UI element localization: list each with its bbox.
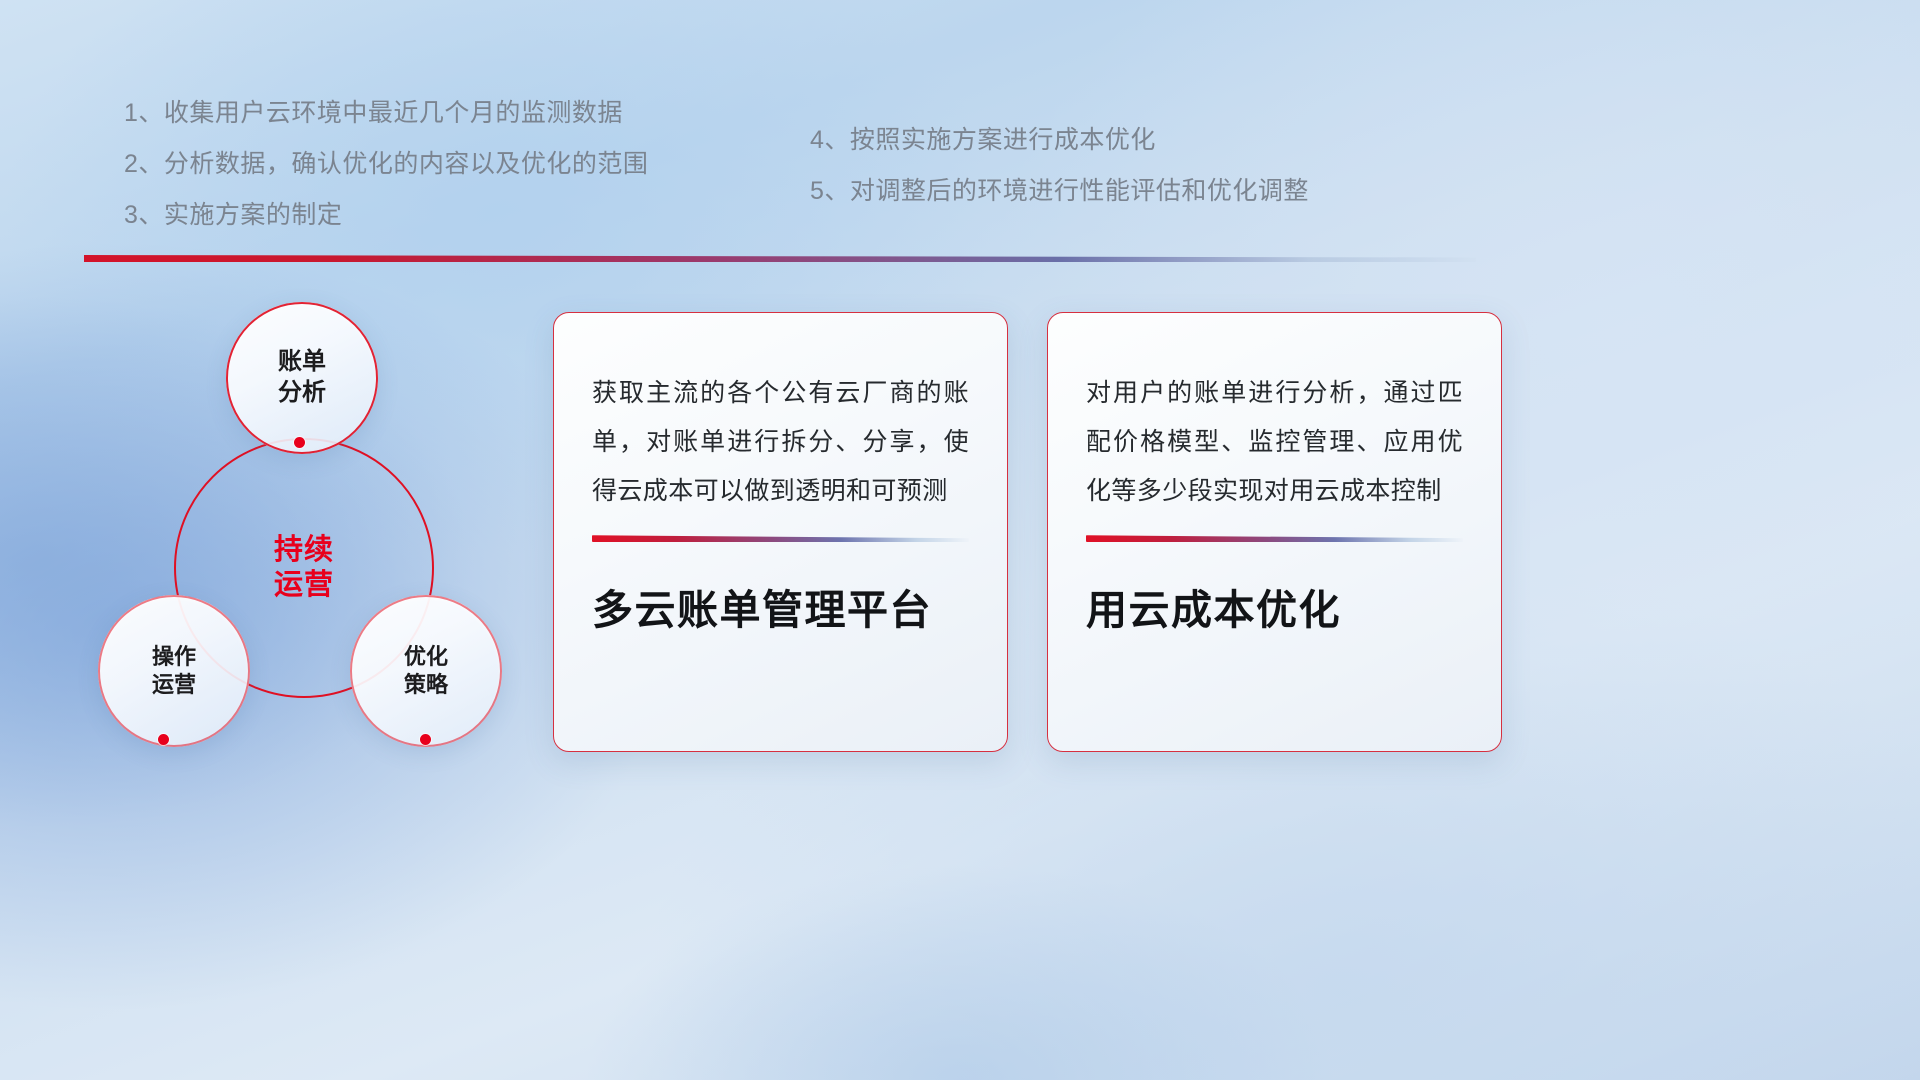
steps-right-column: 4、按照实施方案进行成本优化 5、对调整后的环境进行性能评估和优化调整 (810, 128, 1309, 230)
continuous-operation-diagram: 账单 分析 操作 运营 优化 策略 持续 运营 (80, 290, 550, 760)
card-title: 用云成本优化 (1086, 576, 1463, 636)
node-outline-billing (226, 302, 378, 454)
diagram-center-label: 持续 运营 (174, 438, 434, 698)
section-divider-bar (84, 255, 1476, 262)
step-item-5: 5、对调整后的环境进行性能评估和优化调整 (810, 179, 1309, 204)
connector-dot-left (158, 734, 169, 745)
card-title: 多云账单管理平台 (592, 576, 969, 636)
card-cloud-cost-optimization[interactable]: 对用户的账单进行分析，通过匹配价格模型、监控管理、应用优化等多少段实现对用云成本… (1047, 312, 1502, 752)
card-body-text: 获取主流的各个公有云厂商的账单，对账单进行拆分、分享，使得云成本可以做到透明和可… (592, 369, 969, 515)
card-multicloud-billing-platform[interactable]: 获取主流的各个公有云厂商的账单，对账单进行拆分、分享，使得云成本可以做到透明和可… (553, 312, 1008, 752)
step-item-3: 3、实施方案的制定 (124, 203, 648, 228)
card-accent-rule (1086, 535, 1463, 542)
connector-dot-top (294, 437, 305, 448)
center-label-line2: 运营 (274, 568, 334, 603)
center-label-line1: 持续 (274, 533, 334, 568)
step-item-1: 1、收集用户云环境中最近几个月的监测数据 (124, 101, 648, 126)
slide-canvas: 1、收集用户云环境中最近几个月的监测数据 2、分析数据，确认优化的内容以及优化的… (0, 0, 1920, 1080)
card-accent-rule (592, 535, 969, 542)
step-item-4: 4、按照实施方案进行成本优化 (810, 128, 1309, 153)
connector-dot-right (420, 734, 431, 745)
steps-left-column: 1、收集用户云环境中最近几个月的监测数据 2、分析数据，确认优化的内容以及优化的… (124, 101, 648, 254)
card-body-text: 对用户的账单进行分析，通过匹配价格模型、监控管理、应用优化等多少段实现对用云成本… (1086, 369, 1463, 515)
step-item-2: 2、分析数据，确认优化的内容以及优化的范围 (124, 152, 648, 177)
